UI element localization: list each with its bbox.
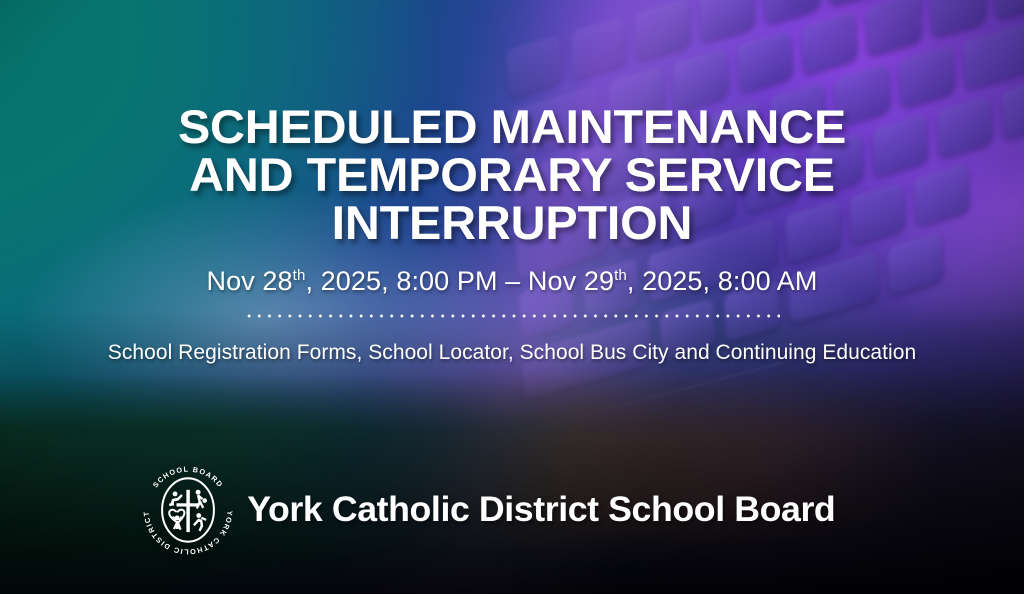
- headline-line-1: SCHEDULED MAINTENANCE: [105, 103, 919, 151]
- start-date: Nov 28: [206, 266, 292, 296]
- maintenance-notice-banner: SCHEDULED MAINTENANCE AND TEMPORARY SERV…: [0, 0, 1024, 594]
- end-date: Nov 29: [528, 266, 614, 296]
- start-date-ordinal: th: [293, 267, 306, 284]
- end-date-ordinal: th: [614, 267, 627, 284]
- board-name-label: York Catholic District School Board: [247, 490, 835, 530]
- page-title: SCHEDULED MAINTENANCE AND TEMPORARY SERV…: [105, 0, 919, 247]
- headline-line-2: AND TEMPORARY SERVICE: [105, 151, 919, 199]
- start-time: , 2025, 8:00 PM: [305, 266, 497, 296]
- affected-services-text: School Registration Forms, School Locato…: [108, 318, 916, 365]
- dotted-divider: [244, 314, 780, 318]
- maintenance-window-text: Nov 28th, 2025, 8:00 PM – Nov 29th, 2025…: [206, 247, 817, 297]
- date-range-separator: –: [498, 266, 528, 296]
- svg-text:SCHOOL BOARD: SCHOOL BOARD: [151, 465, 225, 490]
- headline-line-3: INTERRUPTION: [105, 199, 919, 247]
- york-catholic-crest-icon: SCHOOL BOARD YORK CATHOLIC DISTRICT: [140, 462, 236, 558]
- board-logo-lockup: SCHOOL BOARD YORK CATHOLIC DISTRICT: [140, 462, 830, 558]
- end-time: , 2025, 8:00 AM: [627, 266, 818, 296]
